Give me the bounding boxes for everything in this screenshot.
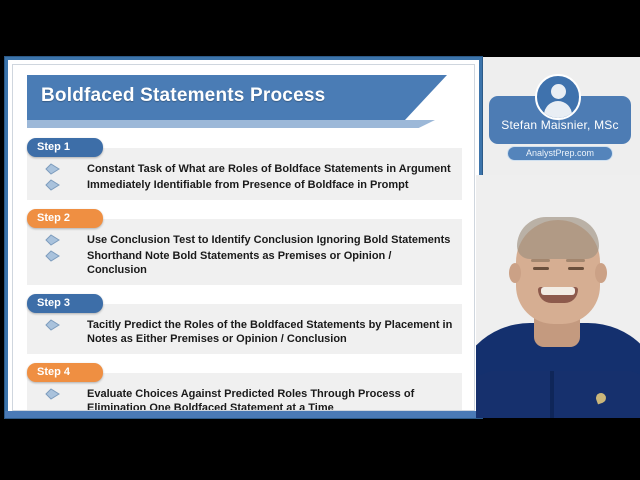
chevron-right-bullet-icon bbox=[35, 233, 69, 246]
chevron-right-bullet-icon bbox=[35, 178, 69, 191]
step-badge: Step 2 bbox=[27, 209, 103, 228]
bullet-text: Evaluate Choices Against Predicted Roles… bbox=[69, 387, 454, 411]
presenter-eye-right bbox=[568, 267, 584, 270]
chevron-right-bullet-icon bbox=[35, 162, 69, 175]
bullet-row: Immediately Identifiable from Presence o… bbox=[35, 177, 454, 193]
presenter-mouth bbox=[538, 287, 578, 303]
video-player-stage: Boldfaced Statements Process Step 1 Cons… bbox=[0, 0, 640, 480]
presenter-shirt-placket bbox=[550, 371, 554, 418]
bullet-row: Use Conclusion Test to Identify Conclusi… bbox=[35, 232, 454, 248]
presenter-eye-left bbox=[533, 267, 549, 270]
page-title: Boldfaced Statements Process bbox=[41, 85, 325, 107]
slide-title-underline bbox=[27, 120, 435, 128]
steps-list: Step 1 Constant Task of What are Roles o… bbox=[27, 137, 462, 411]
step-badge: Step 3 bbox=[27, 294, 103, 313]
step-block: Step 1 Constant Task of What are Roles o… bbox=[27, 137, 462, 200]
bullet-row: Evaluate Choices Against Predicted Roles… bbox=[35, 386, 454, 411]
presenter-eyebrow-right bbox=[566, 259, 585, 262]
step-block: Step 2 Use Conclusion Test to Identify C… bbox=[27, 208, 462, 285]
step-badge: Step 4 bbox=[27, 363, 103, 382]
bullet-row: Constant Task of What are Roles of Boldf… bbox=[35, 161, 454, 177]
presenter-eyebrow-left bbox=[531, 259, 550, 262]
slide-frame-bottom-edge bbox=[5, 411, 482, 418]
user-avatar-icon bbox=[535, 74, 581, 120]
step-badge: Step 1 bbox=[27, 138, 103, 157]
bullet-row: Shorthand Note Bold Statements as Premis… bbox=[35, 248, 454, 278]
presenter-hair bbox=[517, 217, 599, 259]
bullet-text: Shorthand Note Bold Statements as Premis… bbox=[69, 249, 454, 277]
presenter-video bbox=[476, 175, 640, 418]
presenter-ear-left bbox=[509, 263, 521, 283]
presenter-name: Stefan Maisnier, MSc bbox=[489, 118, 631, 132]
presenter-ear-right bbox=[595, 263, 607, 283]
presenter-shoulders bbox=[476, 371, 640, 418]
chevron-right-bullet-icon bbox=[35, 318, 69, 331]
presentation-slide: Boldfaced Statements Process Step 1 Cons… bbox=[5, 57, 482, 418]
bullet-text: Constant Task of What are Roles of Boldf… bbox=[69, 162, 454, 176]
bullet-text: Immediately Identifiable from Presence o… bbox=[69, 178, 454, 192]
step-block: Step 4 Evaluate Choices Against Predicte… bbox=[27, 362, 462, 411]
step-body: Use Conclusion Test to Identify Conclusi… bbox=[27, 219, 462, 285]
bullet-row: Tacitly Predict the Roles of the Boldfac… bbox=[35, 317, 454, 347]
chevron-right-bullet-icon bbox=[35, 249, 69, 262]
slide-content-area: Boldfaced Statements Process Step 1 Cons… bbox=[12, 64, 475, 411]
bullet-text: Tacitly Predict the Roles of the Boldfac… bbox=[69, 318, 454, 346]
brand-name: AnalystPrep.com bbox=[507, 148, 613, 158]
bullet-text: Use Conclusion Test to Identify Conclusi… bbox=[69, 233, 454, 247]
step-block: Step 3 Tacitly Predict the Roles of the … bbox=[27, 293, 462, 354]
chevron-right-bullet-icon bbox=[35, 387, 69, 400]
